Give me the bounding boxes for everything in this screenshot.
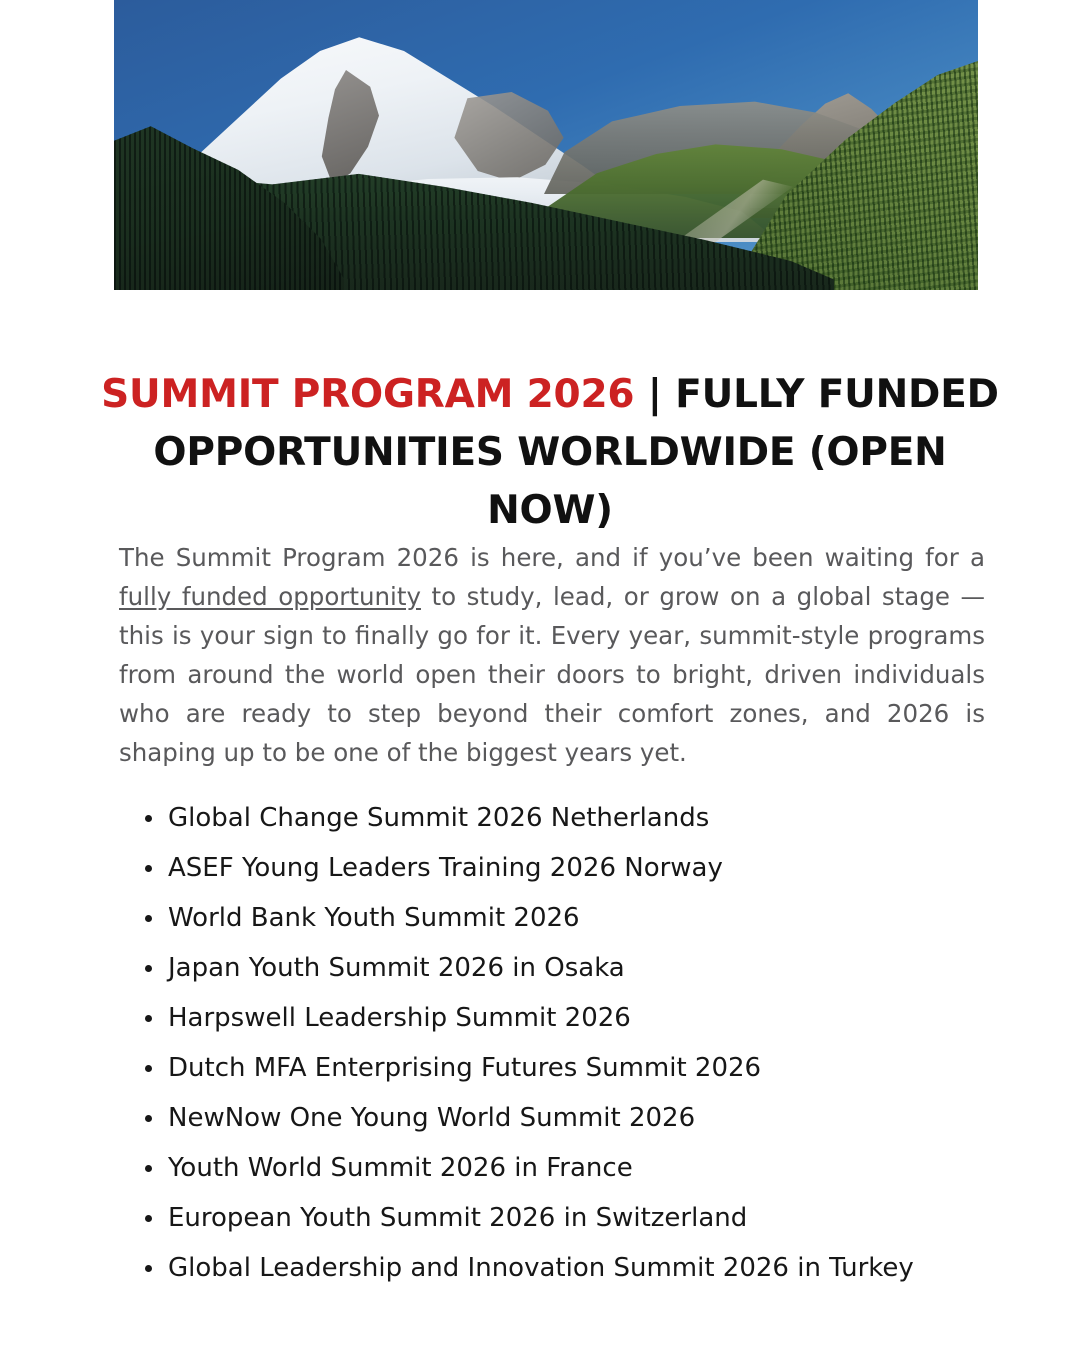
bullet-icon [145,865,152,872]
program-label: European Youth Summit 2026 in Switzerlan… [168,1203,747,1233]
intro-paragraph: The Summit Program 2026 is here, and if … [119,538,985,772]
program-label: NewNow One Young World Summit 2026 [168,1103,695,1133]
list-item[interactable]: ASEF Young Leaders Training 2026 Norway [119,843,999,893]
program-label: Global Change Summit 2026 Netherlands [168,803,709,833]
bullet-icon [145,1265,152,1272]
article-page: SUMMIT PROGRAM 2026 | FULLY FUNDED OPPOR… [0,0,1080,1350]
bullet-icon [145,1065,152,1072]
bullet-icon [145,1015,152,1022]
program-list: Global Change Summit 2026 Netherlands AS… [119,793,999,1293]
program-label: Youth World Summit 2026 in France [168,1153,633,1183]
bullet-icon [145,965,152,972]
bullet-icon [145,815,152,822]
program-label: ASEF Young Leaders Training 2026 Norway [168,853,723,883]
bullet-icon [145,1215,152,1222]
list-item[interactable]: World Bank Youth Summit 2026 [119,893,999,943]
program-label: Japan Youth Summit 2026 in Osaka [168,953,625,983]
list-item[interactable]: NewNow One Young World Summit 2026 [119,1093,999,1143]
list-item[interactable]: Youth World Summit 2026 in France [119,1143,999,1193]
list-item[interactable]: Global Change Summit 2026 Netherlands [119,793,999,843]
list-item[interactable]: Harpswell Leadership Summit 2026 [119,993,999,1043]
page-title-highlight: SUMMIT PROGRAM 2026 [101,372,634,417]
bullet-icon [145,1165,152,1172]
program-label: Global Leadership and Innovation Summit … [168,1253,914,1283]
page-title: SUMMIT PROGRAM 2026 | FULLY FUNDED OPPOR… [100,366,1000,540]
fully-funded-opportunity-link[interactable]: fully funded opportunity [119,582,421,611]
intro-text-before-link: The Summit Program 2026 is here, and if … [119,543,985,572]
list-item[interactable]: Dutch MFA Enterprising Futures Summit 20… [119,1043,999,1093]
hero-mountain-image [114,0,978,290]
list-item[interactable]: Global Leadership and Innovation Summit … [119,1243,999,1293]
list-item[interactable]: European Youth Summit 2026 in Switzerlan… [119,1193,999,1243]
program-label: World Bank Youth Summit 2026 [168,903,580,933]
bullet-icon [145,1115,152,1122]
bullet-icon [145,915,152,922]
page-title-separator: | [634,372,675,417]
list-item[interactable]: Japan Youth Summit 2026 in Osaka [119,943,999,993]
program-label: Dutch MFA Enterprising Futures Summit 20… [168,1053,761,1083]
program-label: Harpswell Leadership Summit 2026 [168,1003,631,1033]
